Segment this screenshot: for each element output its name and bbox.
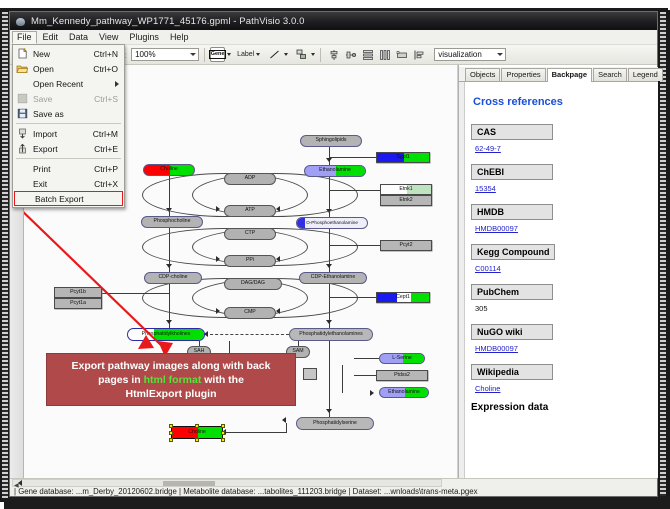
menu-item-open-recent[interactable]: Open Recent [13,76,124,91]
line-tool-group[interactable] [267,47,288,62]
annotation-line2-a: pages in [98,374,144,386]
menu-item-new[interactable]: New Ctrl+N [13,46,124,61]
geneproduct-tool-group[interactable]: Gene [210,47,231,62]
menu-item-label: Import [30,129,93,139]
title-bar: Mm_Kennedy_pathway_WP1771_45176.gpml - P… [10,12,657,30]
shape-tool-group[interactable] [294,47,315,62]
frame-hatch-left [2,12,8,498]
geneproduct-icon[interactable]: Gene [210,47,225,62]
expression-data-heading: Expression data [471,402,652,413]
menu-item-label: Save [30,94,94,104]
app-icon [15,16,26,27]
zoom-combobox[interactable]: 100% [131,48,199,61]
menu-item-label: Exit [30,179,94,189]
annotation-callout: Export pathway images along with back pa… [46,353,296,406]
scrollbar-thumb[interactable] [163,481,215,486]
file-menu-dropdown[interactable]: New Ctrl+N Open Ctrl+O Open Recent Save [12,44,125,208]
xref-kegg-compound: Kegg Compound C00114 [471,242,652,273]
menu-file[interactable]: File [12,31,37,44]
status-bar: ◀ | Gene database: ...m_Derby_20120602.b… [10,478,657,496]
label-tool-label: Label [237,51,254,58]
menu-item-exit[interactable]: Exit Ctrl+X [13,176,124,191]
xref-link-kegg[interactable]: C00114 [471,264,652,273]
xref-link-cas[interactable]: 62-49-7 [471,144,652,153]
menu-item-accel: Ctrl+P [94,164,122,174]
order-icon[interactable] [411,47,426,62]
xref-pubchem: PubChem 305 [471,282,652,313]
tab-backpage[interactable]: Backpage [547,68,592,83]
line-chevron-down-icon[interactable] [284,53,288,56]
status-text: | Gene database: ...m_Derby_20120602.bri… [14,487,478,496]
tab-legend[interactable]: Legend [628,68,663,82]
menu-item-label: New [30,49,94,59]
menu-item-label: Open [30,64,93,74]
blank-icon [14,162,30,175]
cross-references-heading: Cross references [473,96,652,108]
xref-nugo-wiki: NuGO wiki HMDB00097 [471,322,652,353]
xref-name: NuGO wiki [471,324,553,340]
backpage-content: Cross references CAS 62-49-7 ChEBI 15354… [465,82,658,478]
menu-item-label: Batch Export [32,194,116,204]
menu-item-accel: Ctrl+O [93,64,122,74]
visualization-value: visualization [438,50,482,59]
menu-item-import[interactable]: Import Ctrl+M [13,126,124,141]
align-middle-icon[interactable] [343,47,358,62]
frame-hatch-right [660,12,666,496]
annotation-line2-b: with the [201,374,244,386]
menu-view[interactable]: View [94,31,123,44]
new-file-icon [14,47,30,60]
side-panel: Objects Properties Backpage Search Legen… [458,65,657,478]
window-title: Mm_Kennedy_pathway_WP1771_45176.gpml - P… [31,16,305,27]
toolbar-separator-4 [320,48,321,62]
menu-item-accel: Ctrl+X [94,179,122,189]
geneproduct-chevron-down-icon[interactable] [227,53,231,56]
menu-item-accel: Ctrl+E [94,144,122,154]
horizontal-scrollbar[interactable]: ◀ [12,479,442,487]
open-folder-icon [14,62,30,75]
xref-name: Wikipedia [471,364,553,380]
menu-item-label: Print [30,164,94,174]
xref-name: Kegg Compound [471,244,555,260]
menu-item-accel: Ctrl+M [93,129,122,139]
xref-name: PubChem [471,284,553,300]
menu-item-label: Save as [30,109,118,119]
xref-chebi: ChEBI 15354 [471,162,652,193]
xref-link-nugo[interactable]: HMDB00097 [471,344,652,353]
tab-search[interactable]: Search [593,68,627,82]
xref-wikipedia: Wikipedia Choline [471,362,652,393]
menu-item-label: Open Recent [30,79,115,89]
submenu-arrow-icon [115,81,119,87]
zoom-value: 100% [135,50,155,59]
blank-icon [16,192,32,205]
xref-link-hmdb[interactable]: HMDB00097 [471,224,652,233]
xref-link-chebi[interactable]: 15354 [471,184,652,193]
side-panel-tabs: Objects Properties Backpage Search Legen… [459,67,658,82]
align-center-icon[interactable] [326,47,341,62]
menu-item-print[interactable]: Print Ctrl+P [13,161,124,176]
label-chevron-down-icon[interactable] [256,53,260,56]
menu-item-label: Export [30,144,94,154]
tab-properties[interactable]: Properties [501,68,545,82]
menu-item-save: Save Ctrl+S [13,91,124,106]
menu-item-export[interactable]: Export Ctrl+E [13,141,124,156]
tab-objects[interactable]: Objects [465,68,500,82]
label-tool-group[interactable]: Label [237,51,260,58]
xref-name: ChEBI [471,164,553,180]
menu-edit[interactable]: Edit [38,31,64,44]
import-icon [14,127,30,140]
menu-plugins[interactable]: Plugins [124,31,164,44]
export-icon [14,142,30,155]
menu-bar: File Edit Data View Plugins Help [10,30,657,45]
menu-data[interactable]: Data [64,31,93,44]
toolbar-separator-3 [204,48,205,62]
group-icon[interactable] [394,47,409,62]
menu-item-accel: Ctrl+S [94,94,122,104]
xref-hmdb: HMDB HMDB00097 [471,202,652,233]
annotation-line3: HtmlExport plugin [126,388,217,400]
xref-link-wikipedia[interactable]: Choline [471,384,652,393]
annotation-line1: Export pathway images along with back [72,360,271,372]
geneproduct-icon-label: Gene [209,50,227,59]
shape-icon[interactable] [294,47,309,62]
chevron-down-icon [190,53,196,56]
menu-item-batch-export[interactable]: Batch Export [14,191,123,206]
save-as-icon [14,107,30,120]
menu-separator [16,123,121,124]
visualization-combobox[interactable]: visualization [434,48,506,61]
menu-separator-2 [16,158,121,159]
visualization-chevron-down-icon [497,53,503,56]
xref-value-pubchem: 305 [471,304,652,313]
distribute-h-icon[interactable] [377,47,392,62]
line-icon[interactable] [267,47,282,62]
blank-icon [14,77,30,90]
annotation-text: Export pathway images along with back pa… [72,359,271,401]
distribute-v-icon[interactable] [360,47,375,62]
scroll-left-icon[interactable]: ◀ [14,480,22,486]
annotation-highlight: html format [144,374,202,386]
blank-icon [14,177,30,190]
xref-name: CAS [471,124,553,140]
menu-item-save-as[interactable]: Save as [13,106,124,121]
xref-cas: CAS 62-49-7 [471,122,652,153]
menu-help[interactable]: Help [165,31,194,44]
menu-item-open[interactable]: Open Ctrl+O [13,61,124,76]
screenshot-root: Mm_Kennedy_pathway_WP1771_45176.gpml - P… [0,0,670,509]
shape-chevron-down-icon[interactable] [311,53,315,56]
save-disabled-icon [14,92,30,105]
menu-item-accel: Ctrl+N [94,49,122,59]
pathvisio-window: Mm_Kennedy_pathway_WP1771_45176.gpml - P… [9,11,658,497]
xref-name: HMDB [471,204,553,220]
frame-shadow-bottom [4,496,670,509]
